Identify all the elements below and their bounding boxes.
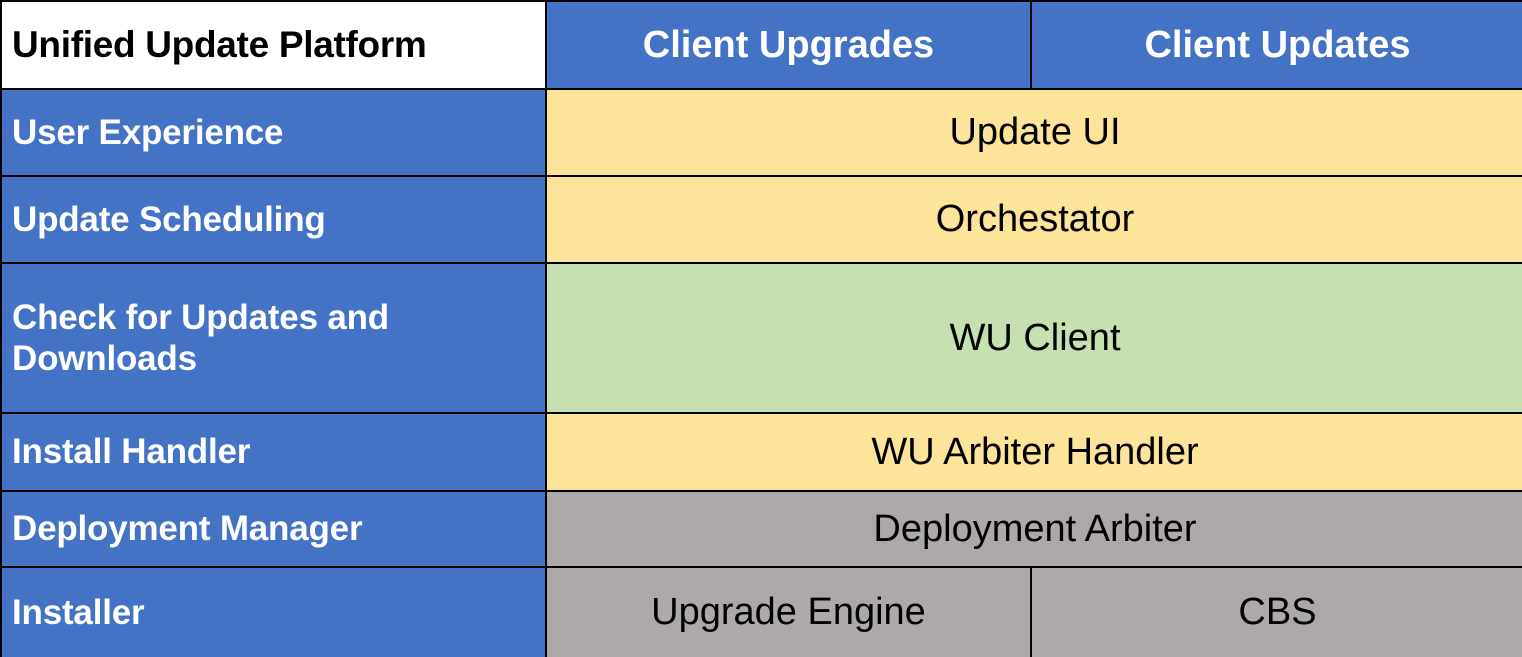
row-label-check-for-updates-and-downloads: Check for Updates and Downloads — [1, 263, 546, 413]
column-header-client-upgrades: Client Upgrades — [546, 1, 1031, 89]
cell-orchestator: Orchestator — [546, 176, 1522, 263]
row-label-deployment-manager: Deployment Manager — [1, 491, 546, 567]
column-header-client-updates: Client Updates — [1031, 1, 1522, 89]
table-row: User Experience Update UI — [1, 89, 1522, 176]
cell-wu-client: WU Client — [546, 263, 1522, 413]
table-row: Check for Updates and Downloads WU Clien… — [1, 263, 1522, 413]
row-label-installer: Installer — [1, 567, 546, 657]
cell-upgrade-engine: Upgrade Engine — [546, 567, 1031, 657]
table-header-row: Unified Update Platform Client Upgrades … — [1, 1, 1522, 89]
table-row: Install Handler WU Arbiter Handler — [1, 413, 1522, 491]
row-label-update-scheduling: Update Scheduling — [1, 176, 546, 263]
page-title: Unified Update Platform — [1, 1, 546, 89]
cell-update-ui: Update UI — [546, 89, 1522, 176]
cell-cbs: CBS — [1031, 567, 1522, 657]
table-row: Update Scheduling Orchestator — [1, 176, 1522, 263]
table-row: Installer Upgrade Engine CBS — [1, 567, 1522, 657]
unified-update-platform-table: Unified Update Platform Client Upgrades … — [0, 0, 1522, 657]
row-label-install-handler: Install Handler — [1, 413, 546, 491]
cell-deployment-arbiter: Deployment Arbiter — [546, 491, 1522, 567]
row-label-user-experience: User Experience — [1, 89, 546, 176]
cell-wu-arbiter-handler: WU Arbiter Handler — [546, 413, 1522, 491]
table-row: Deployment Manager Deployment Arbiter — [1, 491, 1522, 567]
